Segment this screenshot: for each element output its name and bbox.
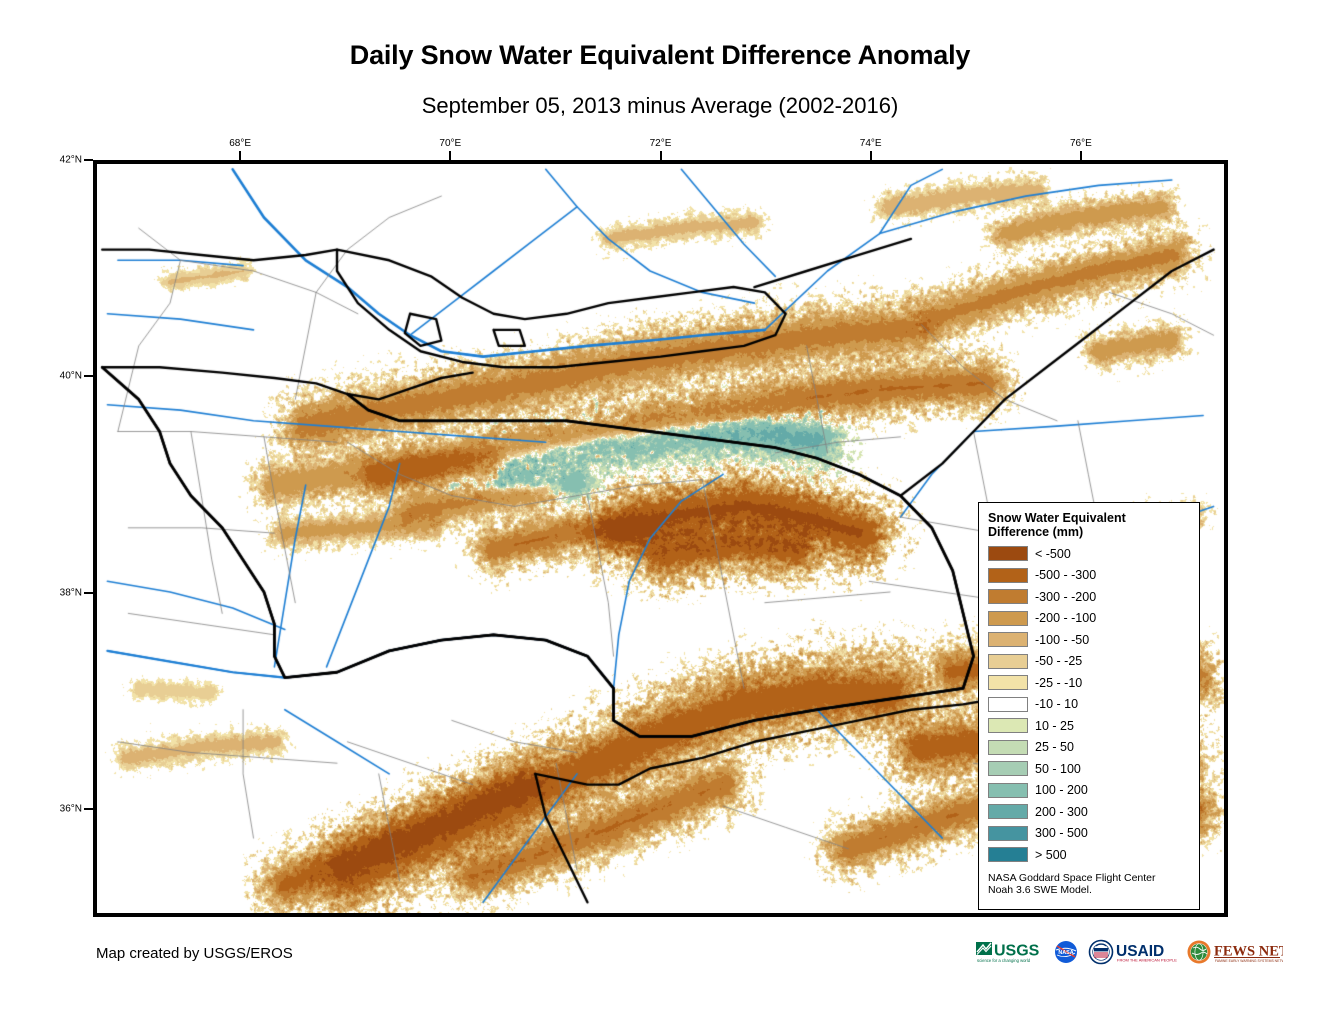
legend-label: -300 - -200 xyxy=(1035,590,1096,604)
legend-row: 300 - 500 xyxy=(988,823,1199,845)
legend-label: 50 - 100 xyxy=(1035,762,1081,776)
legend-row: 200 - 300 xyxy=(988,801,1199,823)
legend-label: -100 - -50 xyxy=(1035,633,1089,647)
usaid-logo: USAID FROM THE AMERICAN PEOPLE xyxy=(1087,938,1179,966)
legend-row: 100 - 200 xyxy=(988,780,1199,802)
lat-tick xyxy=(84,159,93,161)
legend-row: -50 - -25 xyxy=(988,651,1199,673)
lon-tick-label: 76°E xyxy=(1070,138,1092,149)
legend-row: 25 - 50 xyxy=(988,737,1199,759)
usgs-logo: USGS science for a changing world xyxy=(975,938,1045,966)
lon-tick-label: 72°E xyxy=(650,138,672,149)
legend-swatch xyxy=(988,632,1028,647)
legend-credit-line1: NASA Goddard Space Flight Center xyxy=(988,872,1199,885)
legend-row: -100 - -50 xyxy=(988,629,1199,651)
legend-label: -500 - -300 xyxy=(1035,568,1096,582)
legend-swatch xyxy=(988,568,1028,583)
legend-swatch xyxy=(988,611,1028,626)
legend-label: > 500 xyxy=(1035,848,1067,862)
legend-label: 10 - 25 xyxy=(1035,719,1074,733)
legend-swatch xyxy=(988,718,1028,733)
legend-label: 100 - 200 xyxy=(1035,783,1088,797)
lon-tick-label: 68°E xyxy=(229,138,251,149)
legend-row: -200 - -100 xyxy=(988,608,1199,630)
legend-swatch xyxy=(988,697,1028,712)
map-credit-text: Map created by USGS/EROS xyxy=(96,945,293,962)
legend-label: < -500 xyxy=(1035,547,1071,561)
legend-row: -300 - -200 xyxy=(988,586,1199,608)
lat-tick-label: 38°N xyxy=(52,587,82,598)
legend-swatch xyxy=(988,761,1028,776)
legend-swatch xyxy=(988,847,1028,862)
legend-row: < -500 xyxy=(988,543,1199,565)
lat-tick xyxy=(84,808,93,810)
legend-swatch xyxy=(988,654,1028,669)
lon-tick xyxy=(660,151,662,160)
legend-row: 50 - 100 xyxy=(988,758,1199,780)
legend-swatch xyxy=(988,804,1028,819)
legend-row: 10 - 25 xyxy=(988,715,1199,737)
legend-row: -500 - -300 xyxy=(988,565,1199,587)
legend-title-line2: Difference (mm) xyxy=(988,525,1083,539)
legend-title: Snow Water Equivalent Difference (mm) xyxy=(988,511,1188,539)
legend-swatch xyxy=(988,783,1028,798)
lon-tick xyxy=(449,151,451,160)
lon-tick xyxy=(1080,151,1082,160)
svg-text:USGS: USGS xyxy=(994,943,1040,960)
legend-row: -25 - -10 xyxy=(988,672,1199,694)
legend-swatch xyxy=(988,546,1028,561)
legend-row: > 500 xyxy=(988,844,1199,866)
lon-tick-label: 74°E xyxy=(860,138,882,149)
page-subtitle: September 05, 2013 minus Average (2002-2… xyxy=(0,93,1320,119)
legend-swatch xyxy=(988,589,1028,604)
legend-swatch xyxy=(988,826,1028,841)
legend-label: -200 - -100 xyxy=(1035,611,1096,625)
lon-tick xyxy=(239,151,241,160)
legend-row: -10 - 10 xyxy=(988,694,1199,716)
lat-tick xyxy=(84,375,93,377)
legend-credit-line2: Noah 3.6 SWE Model. xyxy=(988,884,1199,897)
lat-tick-label: 42°N xyxy=(52,155,82,166)
lon-tick-label: 70°E xyxy=(439,138,461,149)
title-block: Daily Snow Water Equivalent Difference A… xyxy=(0,0,1320,119)
fewsnet-logo: FEWS NET FAMINE EARLY WARNING SYSTEMS NE… xyxy=(1185,938,1283,966)
legend-swatch xyxy=(988,675,1028,690)
legend-title-line1: Snow Water Equivalent xyxy=(988,511,1126,525)
lat-tick-label: 40°N xyxy=(52,371,82,382)
logo-bar: USGS science for a changing world NASA U… xyxy=(975,934,1283,970)
legend-panel: Snow Water Equivalent Difference (mm) < … xyxy=(978,502,1200,910)
svg-text:NASA: NASA xyxy=(1058,950,1073,956)
legend-swatch xyxy=(988,740,1028,755)
lat-tick xyxy=(84,592,93,594)
legend-credit: NASA Goddard Space Flight Center Noah 3.… xyxy=(988,872,1199,897)
legend-label: -10 - 10 xyxy=(1035,697,1078,711)
svg-text:FAMINE EARLY WARNING SYSTEMS N: FAMINE EARLY WARNING SYSTEMS NETWORK xyxy=(1215,959,1283,963)
svg-text:science for a changing world: science for a changing world xyxy=(977,958,1031,963)
legend-label: 25 - 50 xyxy=(1035,740,1074,754)
svg-text:FROM THE AMERICAN PEOPLE: FROM THE AMERICAN PEOPLE xyxy=(1117,958,1177,963)
legend-label: 300 - 500 xyxy=(1035,826,1088,840)
legend-label: -25 - -10 xyxy=(1035,676,1082,690)
nasa-logo: NASA xyxy=(1051,938,1081,966)
page-title: Daily Snow Water Equivalent Difference A… xyxy=(0,40,1320,71)
lat-tick-label: 36°N xyxy=(52,803,82,814)
legend-label: 200 - 300 xyxy=(1035,805,1088,819)
legend-label: -50 - -25 xyxy=(1035,654,1082,668)
lon-tick xyxy=(870,151,872,160)
legend-items: < -500-500 - -300-300 - -200-200 - -100-… xyxy=(988,543,1199,866)
